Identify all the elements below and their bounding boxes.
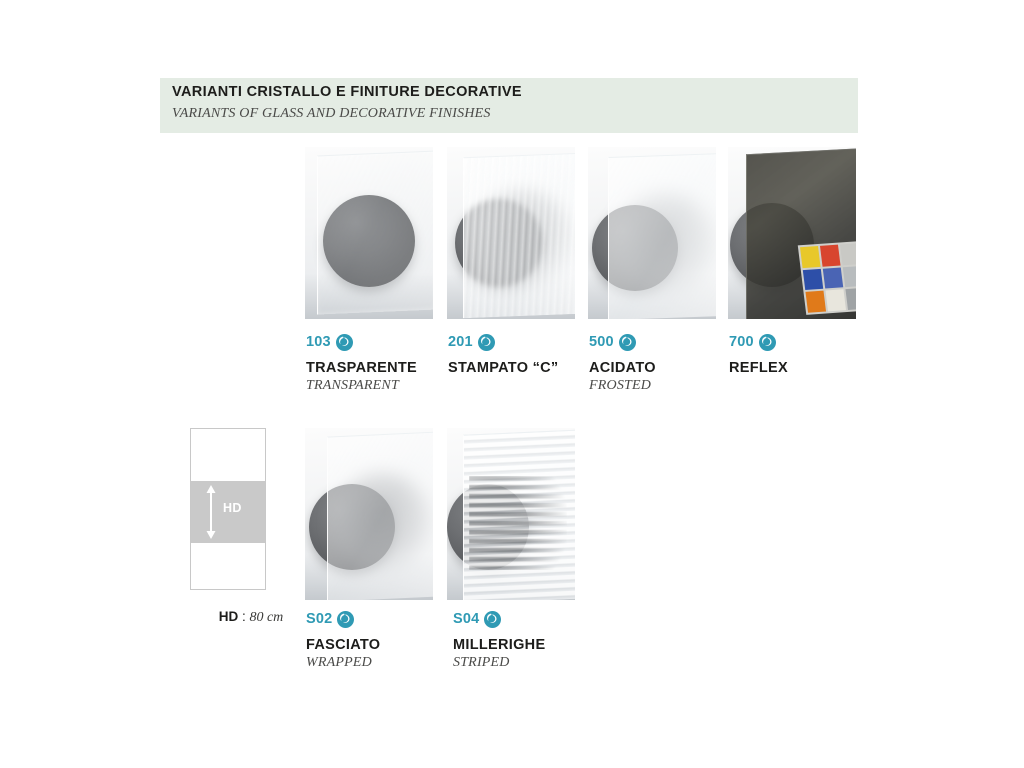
sample-caption-700: 700 REFLEX <box>729 332 899 378</box>
glass-pane-textured <box>463 153 575 319</box>
sample-code: 500 <box>589 334 614 350</box>
sample-name-en: STRIPED <box>453 655 623 671</box>
color-swatch <box>806 291 826 313</box>
hd-caption-key: HD <box>219 609 239 624</box>
sample-name-it: FASCIATO <box>306 637 476 653</box>
glass-pane-transparent <box>317 150 433 314</box>
glass-drop-icon <box>484 611 501 628</box>
page-subtitle: VARIANTS OF GLASS AND DECORATIVE FINISHE… <box>172 106 491 122</box>
sample-caption-S04: S04 MILLERIGHE STRIPED <box>453 609 623 671</box>
sample-tile-500[interactable] <box>588 147 716 319</box>
sample-name-en: WRAPPED <box>306 655 476 671</box>
sample-code: S04 <box>453 611 479 627</box>
sample-caption-S02: S02 FASCIATO WRAPPED <box>306 609 476 671</box>
color-swatch <box>826 290 846 312</box>
glass-drop-icon <box>759 334 776 351</box>
stripe-distortion-overlay <box>469 476 567 570</box>
sample-tile-S04[interactable] <box>447 428 575 600</box>
glass-drop-icon <box>478 334 495 351</box>
glass-pane-wrapped <box>327 431 433 600</box>
color-swatch <box>800 246 820 268</box>
color-reference-card <box>798 241 856 315</box>
sample-tile-103[interactable] <box>305 147 433 319</box>
code-row: S02 <box>306 609 476 629</box>
hd-caption: HD : 80 cm <box>186 608 316 626</box>
sample-name-en: FROSTED <box>589 378 759 394</box>
hd-band-label: HD <box>223 501 242 515</box>
code-row: S04 <box>453 609 623 629</box>
sample-code: 700 <box>729 334 754 350</box>
hd-caption-separator: : <box>238 609 249 624</box>
sample-code: 201 <box>448 334 473 350</box>
hd-dimension-diagram: HD <box>190 428 266 590</box>
glass-drop-icon <box>337 611 354 628</box>
sample-name-en: TRANSPARENT <box>306 378 476 394</box>
glass-pane-frosted <box>608 153 716 319</box>
section-header-band: VARIANTI CRISTALLO E FINITURE DECORATIVE… <box>160 78 858 133</box>
glass-drop-icon <box>336 334 353 351</box>
sample-code: S02 <box>306 611 332 627</box>
hd-caption-value: 80 cm <box>249 610 283 625</box>
color-swatch <box>840 243 856 265</box>
color-swatch <box>845 288 856 310</box>
sample-name-it: MILLERIGHE <box>453 637 623 653</box>
sample-tile-700[interactable] <box>728 147 856 319</box>
sample-name-it: REFLEX <box>729 360 899 376</box>
color-swatch <box>803 269 824 291</box>
glass-drop-icon <box>619 334 636 351</box>
sample-tile-201[interactable] <box>447 147 575 319</box>
page-title: VARIANTI CRISTALLO E FINITURE DECORATIVE <box>172 84 522 100</box>
sample-code: 103 <box>306 334 331 350</box>
hd-double-arrow-icon <box>205 485 217 539</box>
color-swatch <box>820 245 840 267</box>
color-swatch <box>843 266 856 288</box>
color-swatch <box>823 267 844 289</box>
sample-tile-S02[interactable] <box>305 428 433 600</box>
code-row: 700 <box>729 332 899 352</box>
